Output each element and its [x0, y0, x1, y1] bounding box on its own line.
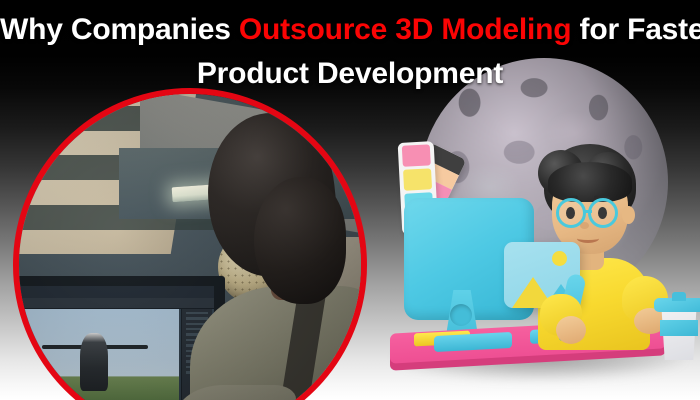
headline-line-2: Product Development [0, 52, 700, 96]
character-hand-left [556, 316, 586, 344]
headline-line-1: Why Companies Outsource 3D Modeling for … [0, 8, 700, 52]
photo-vignette [13, 88, 367, 400]
monitor-knob-icon [450, 304, 472, 326]
headline-highlight: Outsource 3D Modeling [239, 13, 572, 46]
headline-text-post: for Faster [571, 13, 700, 46]
designer-illustration [372, 58, 700, 400]
photo-circle-frame [13, 88, 367, 400]
glasses-lens-right-icon [588, 198, 618, 228]
character-nose [580, 222, 589, 229]
glasses-bridge-icon [584, 210, 592, 213]
character-ear [622, 206, 635, 224]
sun-icon [552, 251, 567, 266]
character-hair-fringe [548, 162, 632, 202]
artist-photo [13, 88, 367, 400]
page-title: Why Companies Outsource 3D Modeling for … [0, 8, 700, 96]
character-mouth [577, 234, 599, 243]
coffee-cup-sleeve [660, 320, 698, 336]
promo-banner: Why Companies Outsource 3D Modeling for … [0, 0, 700, 400]
coffee-cup-tab [672, 292, 686, 301]
headline-text-pre: Why Companies [0, 13, 239, 46]
